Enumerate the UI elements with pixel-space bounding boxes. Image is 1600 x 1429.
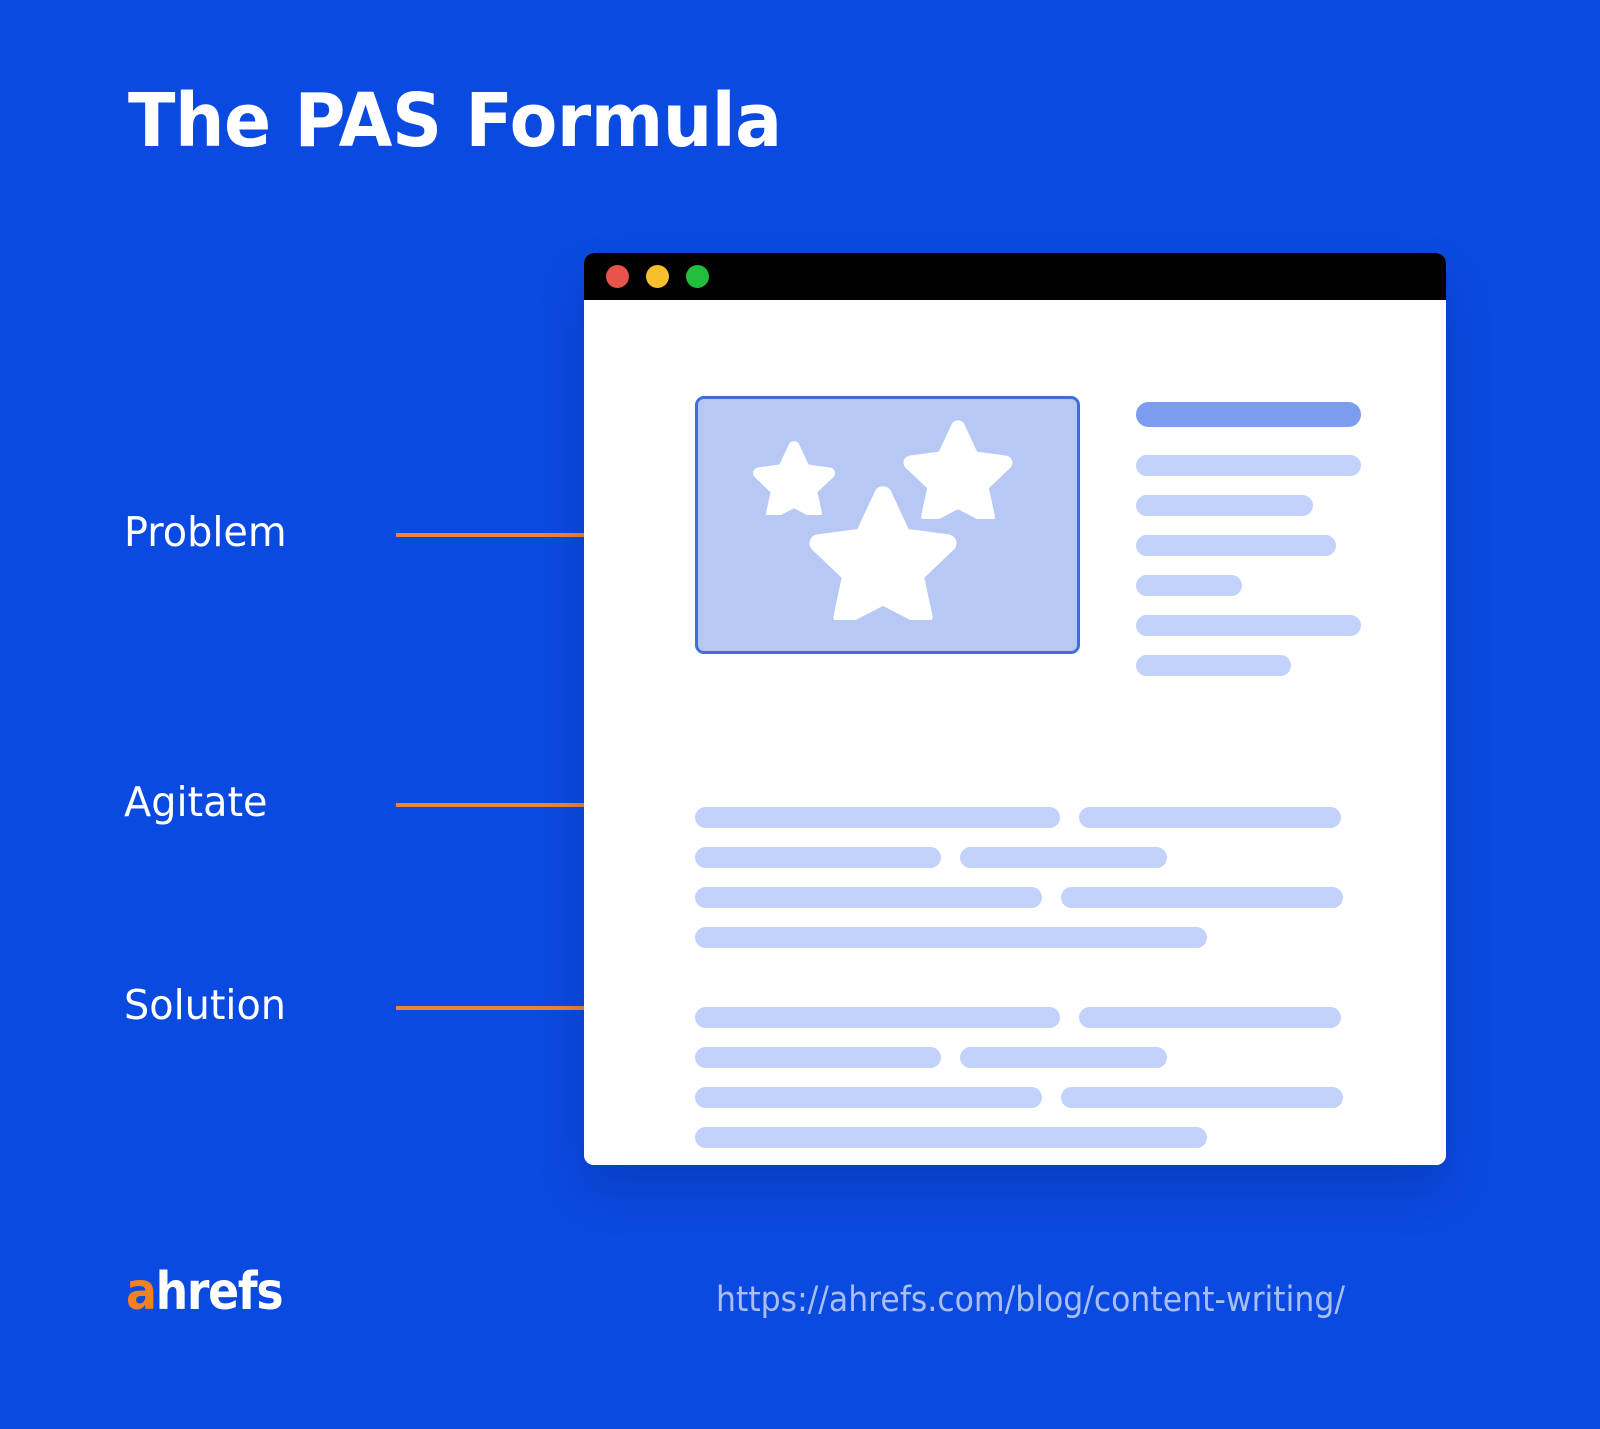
skeleton-text-bar bbox=[695, 807, 1060, 828]
page-title: The PAS Formula bbox=[128, 78, 782, 164]
skeleton-text-bar bbox=[1061, 887, 1343, 908]
skeleton-text-bar bbox=[695, 1087, 1042, 1108]
close-dot[interactable] bbox=[606, 265, 629, 288]
skeleton-text-bar bbox=[1136, 655, 1291, 676]
browser-window-mock bbox=[584, 253, 1446, 1165]
skeleton-line-row bbox=[695, 1047, 1415, 1068]
skeleton-text-bar bbox=[695, 847, 941, 868]
source-url: https://ahrefs.com/blog/content-writing/ bbox=[716, 1280, 1345, 1320]
skeleton-text-bar bbox=[695, 887, 1042, 908]
skeleton-text-bar bbox=[695, 927, 1207, 948]
skeleton-text-bar bbox=[1136, 535, 1336, 556]
skeleton-line-row bbox=[695, 1087, 1415, 1108]
logo-letter-a: a bbox=[126, 1262, 156, 1322]
skeleton-text-bar bbox=[960, 847, 1167, 868]
skeleton-line-row bbox=[695, 927, 1415, 948]
logo-wordmark: hrefs bbox=[156, 1262, 283, 1322]
ahrefs-logo: ahrefs bbox=[126, 1266, 282, 1318]
skeleton-text-bar bbox=[960, 1047, 1167, 1068]
skeleton-text-bar bbox=[695, 1127, 1207, 1148]
minimize-dot[interactable] bbox=[646, 265, 669, 288]
skeleton-text-bar bbox=[695, 1047, 941, 1068]
solution-paragraph bbox=[695, 1007, 1415, 1148]
skeleton-line-row bbox=[695, 1007, 1415, 1028]
skeleton-text-bar bbox=[695, 1007, 1060, 1028]
skeleton-text-bar bbox=[1136, 455, 1361, 476]
skeleton-line-row bbox=[695, 1127, 1415, 1148]
browser-title-bar bbox=[584, 253, 1446, 300]
section-label-solution: Solution bbox=[124, 981, 286, 1029]
skeleton-text-bar bbox=[1061, 1087, 1343, 1108]
skeleton-text-bar bbox=[1079, 807, 1341, 828]
infographic-canvas: The PAS Formula Problem Agitate Solution bbox=[0, 0, 1600, 1429]
section-label-problem: Problem bbox=[124, 508, 287, 556]
skeleton-line-row bbox=[695, 887, 1415, 908]
star-icon-large bbox=[808, 477, 958, 620]
hero-section bbox=[695, 396, 1415, 676]
skeleton-text-bar bbox=[1136, 495, 1313, 516]
skeleton-text-bar bbox=[1079, 1007, 1341, 1028]
skeleton-text-bar bbox=[1136, 615, 1361, 636]
skeleton-text-bar bbox=[1136, 575, 1242, 596]
hero-text-column bbox=[1136, 396, 1361, 676]
skeleton-line-row bbox=[695, 807, 1415, 828]
agitate-paragraph bbox=[695, 807, 1415, 948]
skeleton-line-row bbox=[695, 847, 1415, 868]
skeleton-headline-bar bbox=[1136, 402, 1361, 427]
maximize-dot[interactable] bbox=[686, 265, 709, 288]
image-placeholder bbox=[695, 396, 1080, 654]
browser-viewport bbox=[584, 300, 1446, 1165]
section-label-agitate: Agitate bbox=[124, 778, 268, 826]
